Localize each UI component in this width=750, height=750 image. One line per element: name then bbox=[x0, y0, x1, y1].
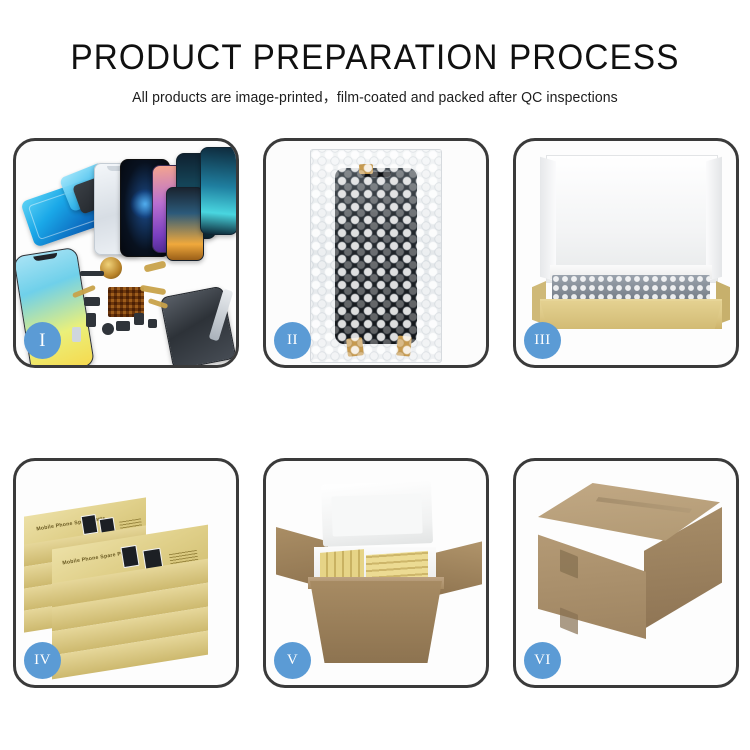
retail-box bbox=[52, 643, 208, 667]
phone-orange-icon bbox=[166, 187, 204, 261]
header: PRODUCT PREPARATION PROCESS All products… bbox=[0, 0, 750, 108]
step-panel-6: VI bbox=[513, 458, 739, 688]
component-chip-icon bbox=[148, 319, 157, 328]
foam-lid-inner bbox=[331, 493, 422, 536]
bubble-texture bbox=[311, 150, 441, 362]
process-grid: I II bbox=[13, 138, 737, 688]
component-chip-icon bbox=[134, 313, 144, 325]
step-panel-4: Mobile Phone Spare Parts bbox=[13, 458, 239, 688]
page-title: PRODUCT PREPARATION PROCESS bbox=[19, 38, 732, 78]
step-badge-6: VI bbox=[524, 642, 561, 679]
step-badge-3: III bbox=[524, 322, 561, 359]
phone-cyan-icon bbox=[200, 147, 236, 235]
carton-front-face bbox=[538, 523, 646, 639]
component-button-icon bbox=[102, 323, 114, 335]
step-panel-1: I bbox=[13, 138, 239, 368]
sim-tray-icon bbox=[72, 327, 81, 342]
step-panel-2: II bbox=[263, 138, 489, 368]
step-badge-2: II bbox=[274, 322, 311, 359]
page-subtitle: All products are image-printed，film-coat… bbox=[11, 88, 739, 108]
step-panel-3: III bbox=[513, 138, 739, 368]
box-lid-left-flap bbox=[540, 157, 556, 282]
product-preparation-infographic: PRODUCT PREPARATION PROCESS All products… bbox=[0, 0, 750, 750]
box-lid-right-flap bbox=[706, 157, 722, 282]
box-tray-front bbox=[540, 301, 722, 329]
component-chip-icon bbox=[86, 313, 96, 327]
step-badge-1: I bbox=[24, 322, 61, 359]
speaker-coil-icon bbox=[100, 257, 122, 279]
screen-image bbox=[81, 514, 99, 535]
flex-cable-icon bbox=[143, 260, 166, 272]
component-chip-icon bbox=[80, 271, 104, 276]
component-chip-icon bbox=[84, 297, 100, 306]
screen-image bbox=[120, 545, 139, 568]
box-lid-icon bbox=[546, 155, 718, 283]
step-panel-5: V bbox=[263, 458, 489, 688]
carton-body bbox=[310, 581, 442, 663]
step-badge-4: IV bbox=[24, 642, 61, 679]
step-badge-5: V bbox=[274, 642, 311, 679]
component-chip-icon bbox=[116, 321, 130, 331]
bubble-wrap-bag bbox=[310, 149, 442, 363]
